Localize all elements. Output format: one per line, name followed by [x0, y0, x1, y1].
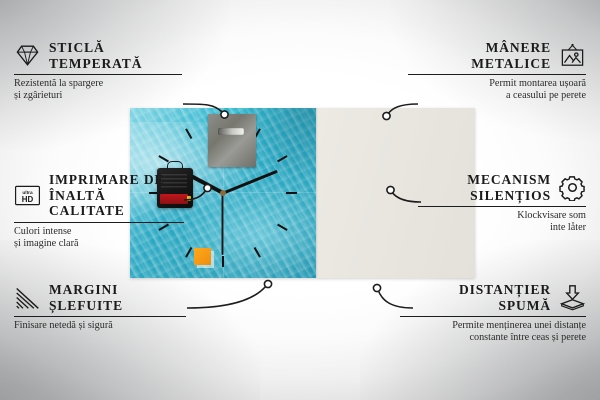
feature-title: MÂNERE METALICE	[471, 40, 551, 71]
feature-tempered-glass: STICLĂ TEMPERATĂ Rezistentă la spargere …	[14, 40, 182, 103]
hanger-plate-slot	[218, 128, 245, 135]
feature-underline	[14, 74, 182, 75]
feature-title: IMPRIMARE DE ÎNALTĂ CALITATE	[49, 172, 184, 219]
feature-title: STICLĂ TEMPERATĂ	[49, 40, 142, 71]
diamond-icon	[14, 42, 41, 69]
hatched-edge-icon	[14, 284, 41, 311]
feature-underline	[418, 206, 586, 207]
infographic-canvas: STICLĂ TEMPERATĂ Rezistentă la spargere …	[0, 0, 600, 400]
feature-underline	[14, 316, 186, 317]
feature-title: MARGINI ȘLEFUITE	[49, 282, 123, 313]
arrow-onto-layers-icon	[559, 284, 586, 311]
foam-spacer	[194, 248, 211, 265]
hanging-picture-frame-icon	[559, 42, 586, 69]
feature-subtitle: Culori intense și imagine clară	[14, 226, 184, 251]
ultra-hd-icon: ultra HD	[14, 182, 41, 209]
clock-center-cap	[220, 190, 226, 196]
feature-silent-mechanism: MECANISM SILENȚIOS Klockvisare som inte …	[418, 172, 586, 235]
feature-underline	[408, 74, 586, 75]
mechanism-hanger-hook	[167, 161, 183, 170]
svg-text:HD: HD	[22, 195, 34, 204]
feature-title: MECANISM SILENȚIOS	[467, 172, 551, 203]
feature-subtitle: Rezistentă la spargere și zgârieturi	[14, 78, 182, 103]
feature-underline	[14, 222, 184, 223]
feature-subtitle: Klockvisare som inte låter	[418, 210, 586, 235]
feature-underline	[400, 316, 586, 317]
feature-foam-spacer: DISTANȚIER SPUMĂ Permite menținerea unei…	[400, 282, 586, 345]
gear-icon	[559, 174, 586, 201]
feature-subtitle: Finisare netedă și sigură	[14, 320, 186, 332]
feature-polished-edges: MARGINI ȘLEFUITE Finisare netedă și sigu…	[14, 282, 186, 332]
feature-metal-handles: MÂNERE METALICE Permit montarea ușoară a…	[408, 40, 586, 103]
feature-high-quality-print: ultra HD IMPRIMARE DE ÎNALTĂ CALITATE Cu…	[14, 172, 184, 250]
metal-hanger-plate	[208, 114, 256, 167]
feature-subtitle: Permite menținerea unei distanțe constan…	[400, 320, 586, 345]
feature-title: DISTANȚIER SPUMĂ	[459, 282, 551, 313]
feature-subtitle: Permit montarea ușoară a ceasului pe per…	[408, 78, 586, 103]
